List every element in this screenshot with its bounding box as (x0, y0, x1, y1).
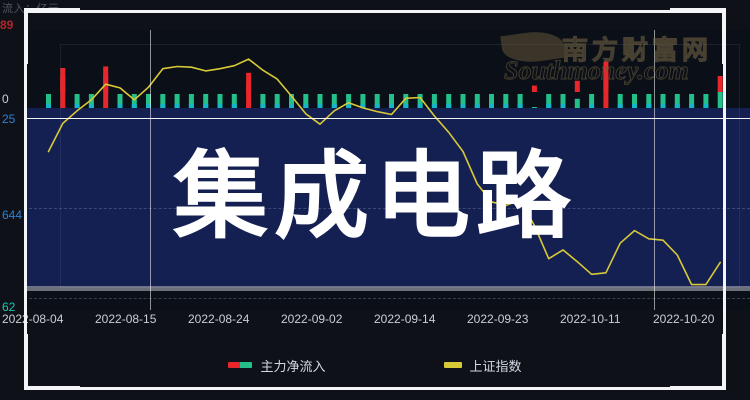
corner-bracket-br-h (670, 386, 726, 390)
legend-swatch-net-inflow (228, 362, 252, 368)
chart-legend: 主力净流入 上证指数 (0, 352, 750, 378)
chart-screenshot: 流入：亿元 89 02564462 2022-08-042022-08-1520… (0, 0, 750, 400)
frame-line-top (24, 10, 726, 13)
x-axis-label-6: 2022-10-11 (560, 312, 621, 326)
x-axis-label-1: 2022-08-15 (95, 312, 156, 326)
y-axis-label-0: 0 (2, 92, 9, 106)
legend-label-net-inflow: 主力净流入 (260, 356, 325, 375)
zero-axis-line (24, 118, 750, 119)
page-title: 集成电路 (0, 150, 750, 245)
legend-item-net-inflow[interactable]: 主力净流入 (228, 356, 325, 375)
corner-bracket-bl-h (24, 386, 80, 390)
legend-swatch-sse-index (444, 362, 462, 368)
corner-bracket-bl-v (24, 334, 28, 390)
frame-line-bottom (24, 387, 726, 390)
x-axis-label-2: 2022-08-24 (188, 312, 249, 326)
corner-bracket-tl-h (24, 8, 80, 12)
frame-line-left (24, 10, 27, 390)
x-axis-label-7: 2022-10-20 (653, 312, 714, 326)
x-axis-label-4: 2022-09-14 (374, 312, 435, 326)
corner-bracket-tl-v (24, 8, 28, 64)
corner-bracket-tr-h (670, 8, 726, 12)
legend-item-sse-index[interactable]: 上证指数 (444, 356, 522, 375)
top-red-value: 89 (0, 18, 13, 32)
corner-bracket-br-v (722, 334, 726, 390)
legend-label-sse-index: 上证指数 (470, 356, 522, 375)
y-axis-label-1: 25 (2, 112, 15, 126)
x-axis-label-5: 2022-09-23 (467, 312, 528, 326)
x-axis-label-3: 2022-09-02 (281, 312, 342, 326)
x-axis-label-0: 2022-08-04 (2, 312, 63, 326)
corner-bracket-tr-v (722, 8, 726, 64)
frame-line-right (723, 10, 726, 390)
